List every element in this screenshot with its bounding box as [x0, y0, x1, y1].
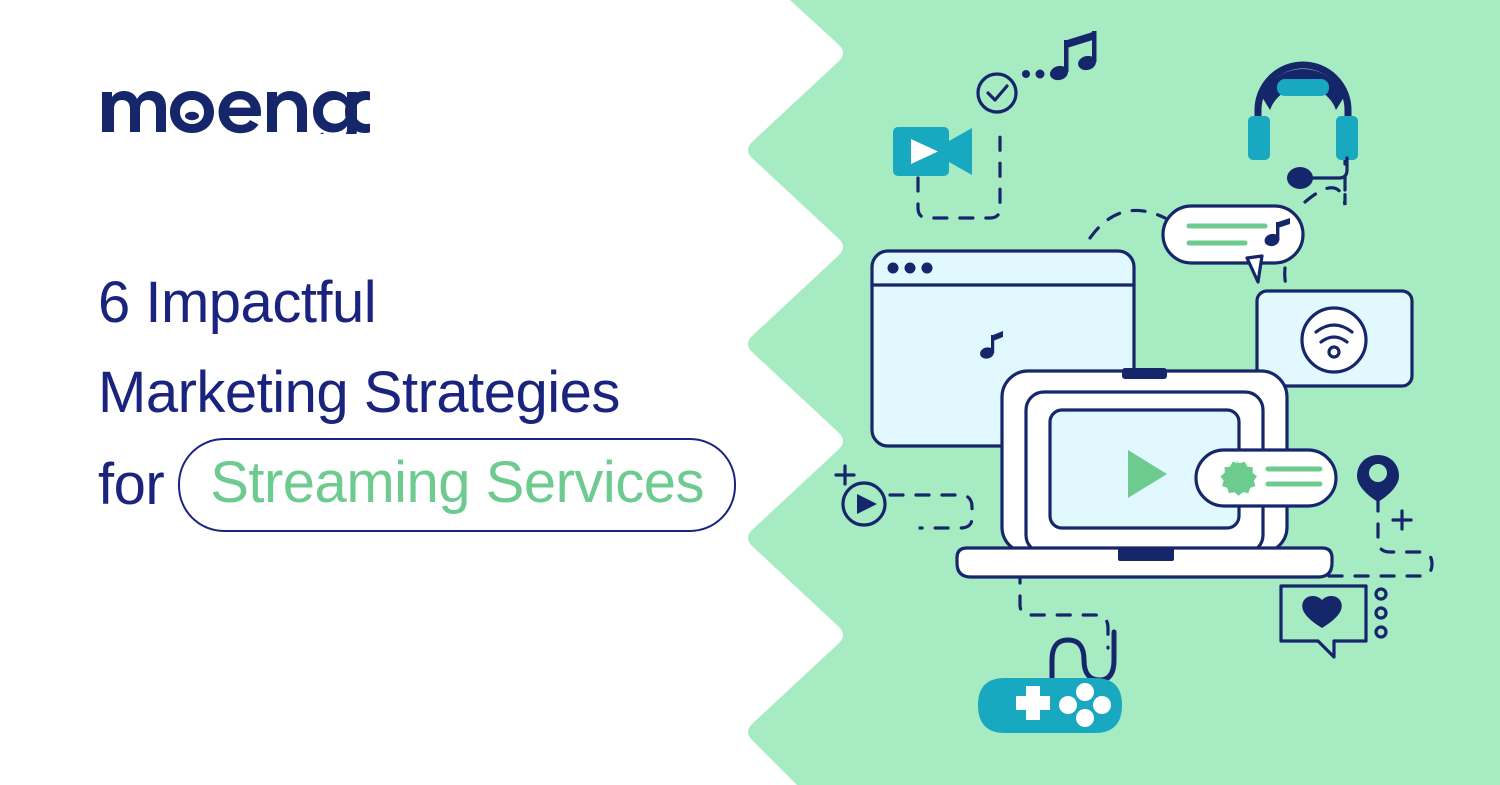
streaming-illustration: .nv{fill:none;stroke:#16266B;stroke-widt…: [0, 0, 1500, 785]
bubble-dots-decoration: [1376, 589, 1386, 637]
browser-traffic-lights: [888, 263, 933, 274]
dashed-connector-playcircle: [890, 495, 972, 528]
music-note-icon: [1049, 31, 1098, 82]
banner-root: 6 Impactful Marketing Strategies for Str…: [0, 0, 1500, 785]
chat-bubble-music: [1163, 206, 1303, 282]
play-circle-icon: [843, 483, 885, 525]
video-camera-icon: [893, 127, 972, 176]
check-circle-icon: [978, 74, 1016, 112]
dashed-connector-bubble-top: [1305, 188, 1345, 205]
game-controller-icon: [978, 632, 1122, 733]
dashed-connector-bubble-left: [1090, 210, 1165, 238]
plus-icon-right: [1393, 511, 1411, 529]
location-pin-icon: [1357, 455, 1399, 502]
heart-speech-bubble: [1281, 586, 1386, 657]
dashed-connector-controller: [1020, 570, 1108, 648]
wifi-card: [1257, 291, 1412, 386]
plus-icon-left: [836, 466, 854, 484]
headset-icon: [1248, 65, 1358, 189]
notification-pill: [1196, 450, 1336, 506]
